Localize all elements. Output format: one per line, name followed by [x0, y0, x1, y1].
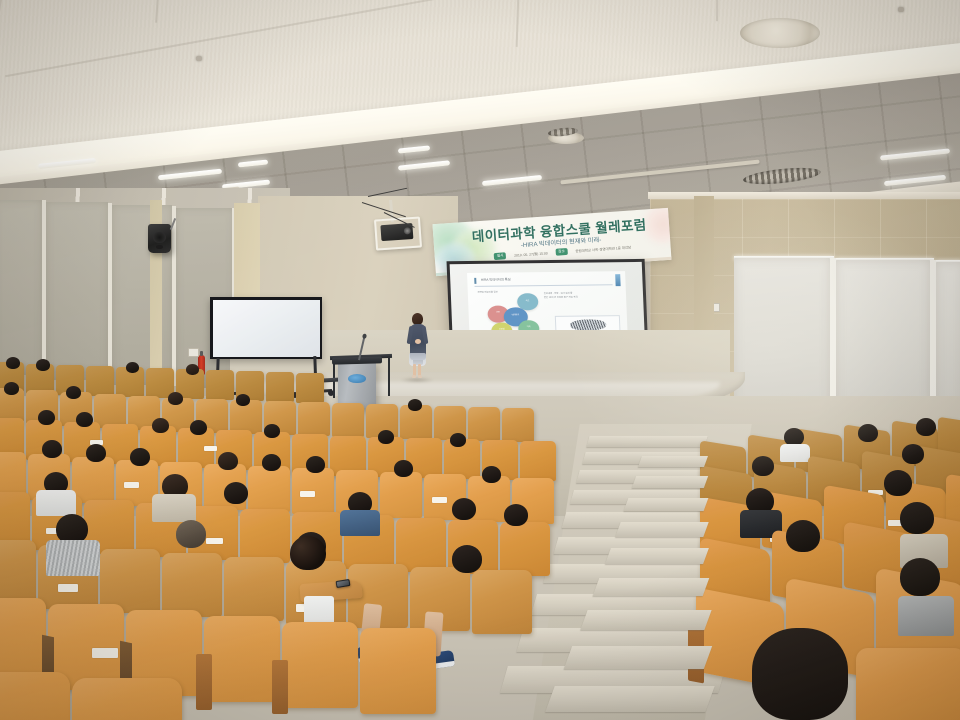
slide-bubble-label: 속도	[517, 300, 538, 303]
banner-date-value: 2019. 05. 27(월) 15:00	[514, 251, 548, 258]
wall-outlet-icon	[188, 348, 199, 357]
ceiling-round-vent-icon	[740, 18, 820, 48]
attendee-torso	[898, 596, 954, 636]
wall-speaker	[148, 224, 171, 253]
attendee-head	[394, 460, 413, 477]
attendee-head	[186, 364, 199, 375]
seat[interactable]	[468, 407, 500, 441]
attendee-torso	[152, 494, 196, 522]
slide-bubble-label: 빅데이터	[504, 314, 528, 317]
attendee-head	[378, 430, 394, 444]
attendee-head	[66, 386, 81, 399]
attendee-head	[176, 520, 206, 548]
blind-panel-left[interactable]	[0, 200, 42, 375]
speaker-tweeter-icon	[156, 245, 162, 249]
attendee-head	[126, 362, 139, 373]
slide-note-right: 진료내역 · 처방 · 검사 결과 등 연간 15억 건 이상의 청구 자료 축…	[544, 293, 598, 301]
attendee-head	[482, 466, 501, 483]
sprinkler-icon	[898, 7, 904, 12]
seat[interactable]	[0, 672, 70, 720]
seat-number-label	[204, 446, 217, 451]
seat[interactable]	[224, 557, 284, 621]
attendee-torso	[36, 490, 76, 516]
attendee-head	[218, 452, 238, 470]
attendee-head	[236, 394, 250, 406]
presenter-shoe	[412, 375, 416, 378]
attendee-head	[858, 424, 878, 442]
lectern-top	[332, 356, 382, 364]
blind-divider	[172, 206, 176, 386]
aisle-step	[615, 522, 708, 537]
seat[interactable]	[332, 403, 364, 437]
speaker-cone-icon	[153, 232, 166, 244]
seat[interactable]	[298, 402, 330, 436]
attendee-head	[452, 498, 476, 520]
attendee-head	[130, 448, 150, 466]
whiteboard-surface	[213, 300, 320, 357]
seat[interactable]	[72, 678, 182, 720]
auditorium-photo: 데이터과학 융합스쿨 월레포럼 -HIRA 빅데이터의 현재와 미래- 일시 2…	[0, 0, 960, 720]
seat[interactable]	[296, 373, 324, 403]
attendee-head	[224, 482, 248, 504]
blind-divider	[42, 200, 46, 380]
attendee-head	[42, 440, 62, 458]
aisle-step	[593, 578, 710, 596]
presenter-shoe	[418, 375, 422, 378]
attendee-head	[450, 433, 466, 447]
seat[interactable]	[86, 366, 114, 396]
seat[interactable]	[282, 622, 358, 708]
attendee-torso	[340, 510, 380, 536]
attendee-head	[6, 357, 20, 369]
banner-place-value: 한림대학교 사회·경영대학관 1층 대강당	[575, 245, 631, 254]
aisle-step	[638, 456, 708, 467]
banner-place-chip: 장소	[555, 248, 567, 256]
ceiling-projector	[380, 223, 413, 241]
mobile-whiteboard	[210, 297, 322, 359]
seat-number-label	[432, 497, 447, 503]
attendee-head	[152, 418, 169, 433]
seat-number-label	[206, 538, 223, 544]
attendee-head	[408, 399, 422, 411]
attendee-head	[36, 359, 50, 371]
attendee-head	[902, 444, 924, 464]
seat[interactable]	[248, 466, 290, 512]
seat-armrest[interactable]	[196, 654, 212, 710]
attendee-head	[916, 418, 936, 436]
seat[interactable]	[360, 628, 436, 714]
aisle-step	[632, 476, 708, 488]
attendee-head	[900, 558, 940, 596]
seat-armrest[interactable]	[272, 660, 288, 714]
seat[interactable]	[162, 553, 222, 617]
attendee-head	[504, 504, 528, 526]
seat[interactable]	[520, 441, 556, 481]
attendee-head	[168, 392, 183, 405]
attendee-head	[900, 502, 934, 534]
slide-title-bar: HIRA 빅데이터의 특징	[474, 275, 613, 286]
attendee-torso	[46, 540, 100, 576]
attendee-head	[38, 410, 55, 425]
seat[interactable]	[472, 570, 532, 634]
attendee-head	[190, 420, 207, 435]
slide-logo-icon	[615, 274, 620, 285]
attendee-head	[306, 456, 325, 473]
aisle-step	[580, 610, 711, 630]
blind-divider	[108, 203, 112, 383]
attendee-head	[4, 382, 19, 395]
seat[interactable]	[266, 372, 294, 402]
sprinkler-icon	[196, 56, 202, 61]
lectern-emblem-icon	[348, 374, 366, 383]
seat-number-label	[300, 491, 315, 497]
slide-note-left: 전국민 의료이용 정보	[477, 292, 518, 296]
blind-panel-left[interactable]	[46, 202, 108, 380]
seat[interactable]	[500, 522, 550, 576]
aisle-step	[605, 548, 709, 564]
attendee-head	[752, 456, 774, 476]
aisle-step	[564, 646, 712, 669]
seat[interactable]	[240, 509, 290, 563]
seat[interactable]	[204, 616, 280, 702]
slide-bubble-label: 가치	[518, 326, 539, 329]
seat[interactable]	[856, 648, 960, 720]
foreground-attendee-head	[752, 628, 848, 720]
projector-cage	[374, 216, 422, 250]
seat[interactable]	[206, 370, 234, 400]
seat[interactable]	[502, 408, 534, 442]
attendee-head	[264, 424, 280, 438]
presenter-hands	[415, 339, 421, 344]
aisle-step	[545, 686, 714, 712]
attendee-head	[76, 412, 93, 427]
projector-lens-icon	[404, 227, 411, 234]
seat[interactable]	[0, 540, 36, 604]
seat-number-label	[58, 584, 78, 592]
slide-title: HIRA 빅데이터의 특징	[481, 277, 511, 282]
seat-number-label	[92, 648, 118, 658]
seat[interactable]	[0, 492, 30, 546]
attendee-head	[452, 545, 482, 573]
attendee-torso	[780, 444, 810, 462]
table-leg	[388, 356, 390, 396]
presenter	[406, 313, 428, 379]
seat[interactable]	[380, 472, 422, 518]
aisle-step	[586, 436, 707, 447]
aisle-step	[624, 498, 709, 511]
attendee-head	[884, 470, 912, 496]
seat-number-label	[124, 482, 139, 488]
attendee-head	[86, 444, 106, 462]
lectern	[338, 362, 376, 408]
attendee-head	[786, 520, 820, 552]
attendee-head	[262, 454, 281, 471]
banner-date-chip: 일시	[494, 252, 506, 260]
attendee-head-curly	[290, 536, 326, 570]
